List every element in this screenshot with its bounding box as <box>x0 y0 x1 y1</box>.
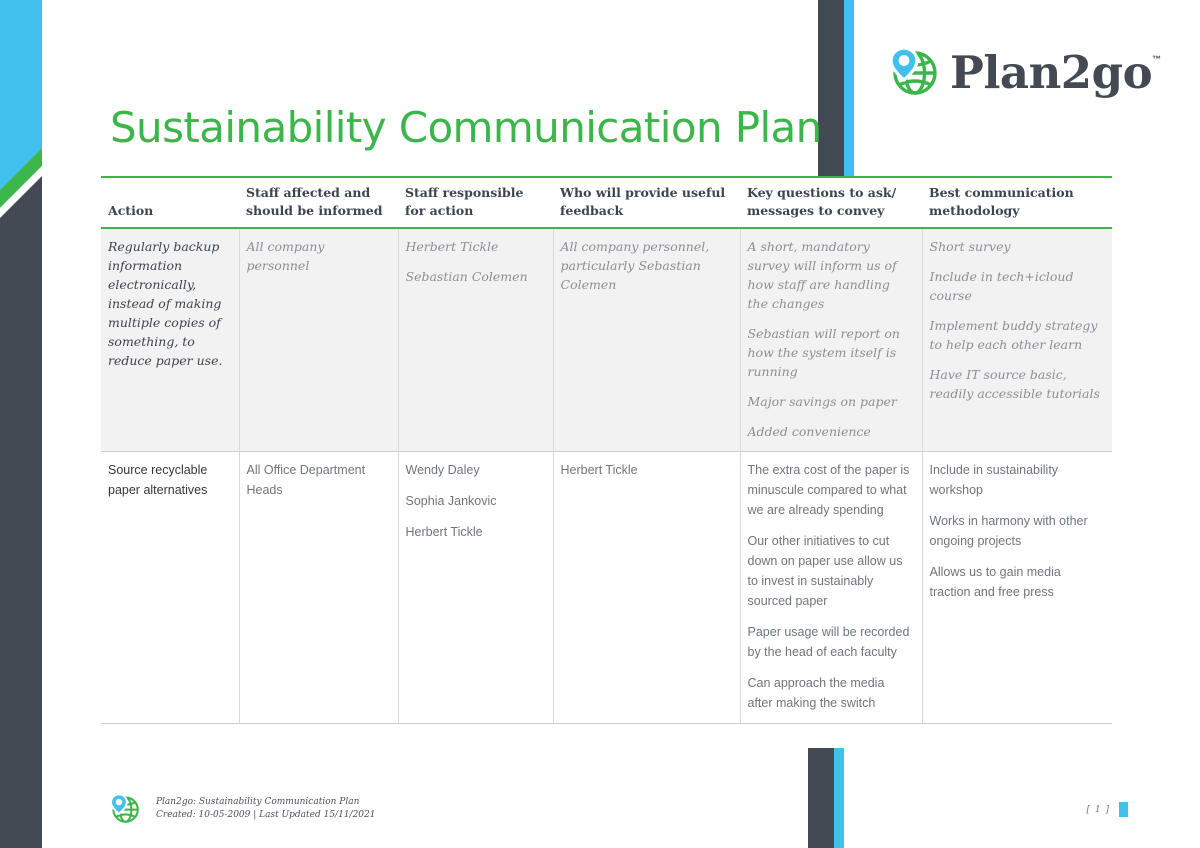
bottom-accent-bar <box>808 748 844 848</box>
footer-line-dates: Created: 10-05-2009 | Last Updated 15/11… <box>156 809 375 823</box>
paragraph: Added convenience <box>748 422 912 441</box>
column-header-key-questions: Key questions to ask/ messages to convey <box>740 177 922 228</box>
page-number: [ 1 ] <box>1087 802 1128 817</box>
communication-plan-table: Action Staff affected and should be info… <box>101 176 1112 724</box>
paragraph: Short survey <box>930 237 1103 256</box>
table-row: Regularly backup information electronica… <box>101 228 1112 452</box>
paragraph-list: Regularly backup information electronica… <box>108 237 229 370</box>
accent-bar-dark <box>808 748 834 848</box>
paragraph-list: All Office Department Heads <box>247 460 388 500</box>
globe-pin-icon <box>108 792 142 826</box>
footer-text: Plan2go: Sustainability Communication Pl… <box>156 796 375 823</box>
brand-logo: Plan2go ™ <box>886 44 1161 100</box>
paragraph-list: Source recyclable paper alternatives <box>108 460 229 500</box>
table-row: Source recyclable paper alternatives All… <box>101 452 1112 724</box>
paragraph: A short, mandatory survey will inform us… <box>748 237 912 313</box>
paragraph-list: Herbert TickleSebastian Colemen <box>406 237 543 286</box>
cell-action: Regularly backup information electronica… <box>101 228 239 452</box>
paragraph-list: Wendy DaleySophia JankovicHerbert Tickle <box>406 460 543 542</box>
paragraph: Our other initiatives to cut down on pap… <box>748 531 912 611</box>
cell-methodology: Short surveyInclude in tech+icloud cours… <box>922 228 1112 452</box>
accent-bar-dark <box>818 0 844 176</box>
column-header-action: Action <box>101 177 239 228</box>
paragraph-list: Short surveyInclude in tech+icloud cours… <box>930 237 1103 403</box>
cell-staff-affected: All Office Department Heads <box>239 452 398 724</box>
paragraph: All Office Department Heads <box>247 460 388 500</box>
paragraph: Sebastian will report on how the system … <box>748 324 912 381</box>
paragraph: Sophia Jankovic <box>406 491 543 511</box>
paragraph-list: The extra cost of the paper is minuscule… <box>748 460 912 713</box>
cell-staff-responsible: Herbert TickleSebastian Colemen <box>398 228 553 452</box>
brand-wordmark: Plan2go <box>950 50 1152 95</box>
paragraph: Paper usage will be recorded by the head… <box>748 622 912 662</box>
paragraph: Sebastian Colemen <box>406 267 543 286</box>
paragraph: The extra cost of the paper is minuscule… <box>748 460 912 520</box>
paragraph: Include in sustainability workshop <box>930 460 1103 500</box>
cell-methodology: Include in sustainability workshopWorks … <box>922 452 1112 724</box>
paragraph: Can approach the media after making the … <box>748 673 912 713</box>
left-edge-decoration <box>0 0 42 848</box>
paragraph: Source recyclable paper alternatives <box>108 460 229 500</box>
globe-pin-icon <box>886 44 942 100</box>
paragraph: Allows us to gain media traction and fre… <box>930 562 1103 602</box>
paragraph-list: Include in sustainability workshopWorks … <box>930 460 1103 602</box>
cell-staff-affected: All company personnel <box>239 228 398 452</box>
paragraph-list: Herbert Tickle <box>561 460 730 480</box>
page-number-label: [ 1 ] <box>1087 805 1110 815</box>
paragraph: Wendy Daley <box>406 460 543 480</box>
table-body: Regularly backup information electronica… <box>101 228 1112 724</box>
accent-bar-blue <box>834 748 844 848</box>
cell-feedback: All company personnel, particularly Seba… <box>553 228 740 452</box>
cell-staff-responsible: Wendy DaleySophia JankovicHerbert Tickle <box>398 452 553 724</box>
footer: Plan2go: Sustainability Communication Pl… <box>108 792 375 826</box>
paragraph: Include in tech+icloud course <box>930 267 1103 305</box>
column-header-staff-responsible: Staff responsible for action <box>398 177 553 228</box>
cell-feedback: Herbert Tickle <box>553 452 740 724</box>
cell-key-questions: The extra cost of the paper is minuscule… <box>740 452 922 724</box>
paragraph: Major savings on paper <box>748 392 912 411</box>
trademark-symbol: ™ <box>1152 54 1161 64</box>
paragraph: All company personnel <box>247 237 388 275</box>
column-header-staff-affected: Staff affected and should be informed <box>239 177 398 228</box>
paragraph-list: All company personnel <box>247 237 388 275</box>
paragraph: Herbert Tickle <box>561 460 730 480</box>
cell-key-questions: A short, mandatory survey will inform us… <box>740 228 922 452</box>
paragraph-list: All company personnel, particularly Seba… <box>561 237 730 294</box>
paragraph: Herbert Tickle <box>406 237 543 256</box>
paragraph-list: A short, mandatory survey will inform us… <box>748 237 912 441</box>
column-header-methodology: Best communication methodology <box>922 177 1112 228</box>
accent-bar-blue <box>844 0 854 176</box>
column-header-feedback: Who will provide useful feedback <box>553 177 740 228</box>
paragraph: Have IT source basic, readily accessible… <box>930 365 1103 403</box>
cell-action: Source recyclable paper alternatives <box>101 452 239 724</box>
paragraph: Implement buddy strategy to help each ot… <box>930 316 1103 354</box>
page-title: Sustainability Communication Plan <box>110 107 822 149</box>
paragraph: Herbert Tickle <box>406 522 543 542</box>
paragraph: Works in harmony with other ongoing proj… <box>930 511 1103 551</box>
paragraph: Regularly backup information electronica… <box>108 237 229 370</box>
footer-line-title: Plan2go: Sustainability Communication Pl… <box>156 796 375 810</box>
paragraph: All company personnel, particularly Seba… <box>561 237 730 294</box>
table-header-row: Action Staff affected and should be info… <box>101 177 1112 228</box>
top-accent-bar <box>818 0 854 176</box>
page-number-accent <box>1119 802 1128 817</box>
